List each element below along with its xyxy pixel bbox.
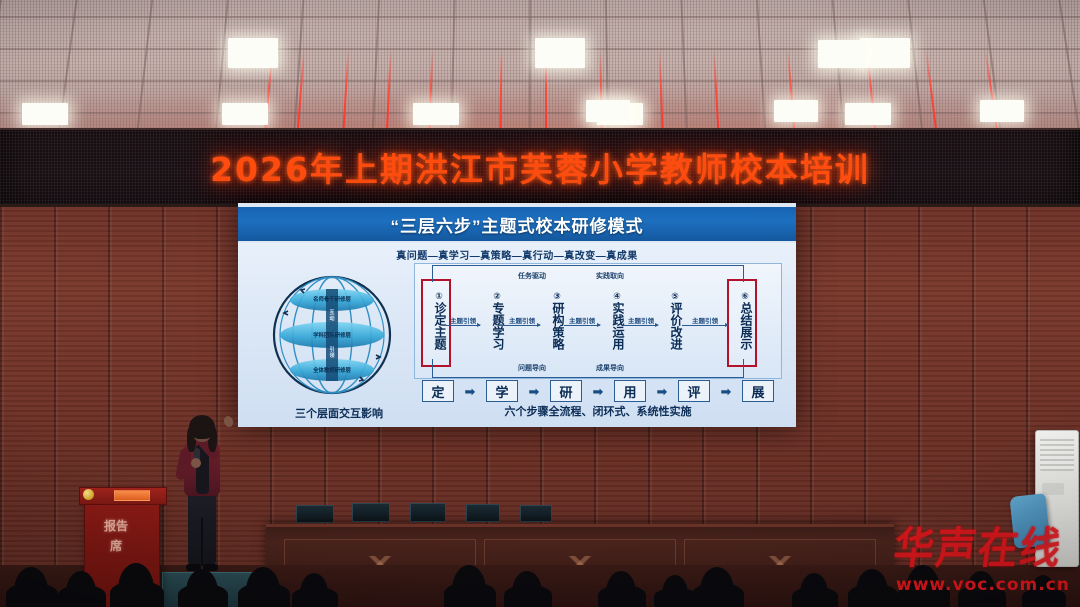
ceiling-light-panel [222,103,268,125]
audience-member-1-head [14,567,48,607]
watermark-brand: 华声在线 [891,521,1078,577]
flow-feedback-loop-top [432,265,744,282]
flow-step-6-label: 总结展示 [739,302,753,350]
ceiling-light-panel [586,100,630,122]
short-step-arrow-1: ➡ [465,385,476,398]
audience-member-5-head [246,567,280,607]
flow-step-3-number: ③ [553,292,563,302]
flow-step-6-number: ⑥ [741,292,751,302]
globe-axis-label-1b: 动 [329,315,334,322]
ceiling-light-panel [228,38,278,68]
flow-connector-3 [564,325,600,326]
globe-axis-label-1: 互 [329,309,334,316]
audience-member-11-head [700,567,734,607]
short-step-6: 展 [742,380,774,402]
flow-step-6: ⑥总结展示 [730,285,752,357]
ceiling-grid-line-h [0,16,1080,18]
ceiling-light-panel [818,40,866,68]
ac-vent-grille [1040,437,1074,471]
led-banner: 2026年上期洪江市芙蓉小学教师校本培训 [0,128,1080,207]
short-step-arrow-3: ➡ [593,385,604,398]
flow-connector-1 [446,325,480,326]
short-step-arrow-2: ➡ [529,385,540,398]
photo-scene: 2026年上期洪江市芙蓉小学教师校本培训 “三层六步”主题式校本研修模式 真问题… [0,0,1080,607]
audience-member-12-head [800,573,828,607]
watermark-url: www.voc.com.cn [896,575,1070,595]
ceiling-light-panel [845,103,891,125]
led-banner-text: 2026年上期洪江市芙蓉小学教师校本培训 [0,143,1080,191]
ceiling-light-panel [413,103,459,125]
flow-step-2: ②专题学习 [482,285,504,357]
flow-connector-label-3: 主题引领 [564,315,600,325]
audience-member-8-head [512,571,542,607]
flow-connector-label-1: 主题引领 [446,315,480,325]
flow-step-2-label: 专题学习 [491,302,505,350]
slide-title-bar: “三层六步”主题式校本研修模式 [238,207,796,241]
flow-step-5-number: ⑤ [671,292,681,302]
globe-caption: 三个层面交互影响 [264,405,414,421]
short-step-4: 用 [614,380,646,402]
flow-step-1: ①诊定主题 [424,285,446,357]
audience-member-9-head [606,571,636,607]
globe-layer-label-1: 名师骨干研修层 [313,295,351,303]
flow-connector-label-5: 主题引领 [682,315,728,325]
short-step-2: 学 [486,380,518,402]
presenter-hair-top [189,415,215,439]
six-step-flow-diagram: ①诊定主题②专题学习③研构策略④实践运用⑤评价改进⑥总结展示主题引领主题引领主题… [414,263,782,379]
globe-axis-label-2b: 领 [329,352,334,359]
ceiling [0,0,1080,128]
globe-layer-label-2: 学科团队研修层 [313,331,351,339]
short-step-3: 研 [550,380,582,402]
short-step-row: 定➡学➡研➡用➡评➡展 [414,379,782,403]
ac-control-panel [1042,483,1064,495]
flow-step-4-number: ④ [613,292,623,302]
short-step-arrow-4: ➡ [657,385,668,398]
ceiling-grid-line-h [0,112,1080,114]
projection-screen: “三层六步”主题式校本研修模式 真问题—真学习—真策略—真行动—真改变—真成果 [238,203,796,427]
flow-step-4-label: 实践运用 [611,302,625,350]
flow-connector-label-2: 主题引领 [504,315,540,325]
podium-top-edge [79,487,167,505]
audience-member-3-head [118,563,154,607]
podium-emblem-icon [83,489,94,500]
watermark: 华声在线 www.voc.com.cn [894,523,1074,603]
flow-connector-2 [504,325,540,326]
ceiling-grid-line [529,0,531,128]
ceiling-light-panel [774,100,818,122]
podium-vertical-text: 报告席 [103,516,129,556]
three-layer-globe-diagram: 名师骨干研修层 学科团队研修层 全体教师研修层 互动 引领 三个层面交互影响 [260,269,410,419]
globe-layer-label-3: 全体教师研修层 [312,366,351,374]
desk-monitor-4 [466,504,500,522]
flow-connector-4 [624,325,658,326]
audience-member-4-head [186,569,218,607]
short-step-1: 定 [422,380,454,402]
audience-member-10-head [662,575,688,607]
flow-step-1-number: ① [435,292,445,302]
short-step-5: 评 [678,380,710,402]
short-step-arrow-5: ➡ [721,385,732,398]
desk-monitor-5 [520,505,552,522]
podium-name-plate [114,490,150,501]
ceiling-light-panel [535,38,585,68]
desk-monitor-1 [296,505,334,523]
flow-step-1-label: 诊定主题 [433,302,447,350]
flow-step-5: ⑤评价改进 [660,285,682,357]
flow-step-5-label: 评价改进 [669,302,683,350]
ceiling-light-panel [860,38,910,68]
audience-member-2-head [66,571,96,607]
flow-step-3: ③研构策略 [542,285,564,357]
ceiling-light-panel [22,103,68,125]
presenter-leg-split [201,518,203,566]
ceiling-light-panel [980,100,1024,122]
flow-connector-label-4: 主题引领 [624,315,658,325]
flow-step-4: ④实践运用 [602,285,624,357]
flow-connector-5 [682,325,728,326]
audience-member-6-head [300,573,328,607]
presenter [170,418,240,578]
globe-svg: 名师骨干研修层 学科团队研修层 全体教师研修层 互动 引领 [260,269,410,403]
desk-monitor-2 [352,503,390,522]
flow-step-2-number: ② [493,292,503,302]
globe-axis-label-2: 引 [329,346,334,353]
flow-caption: 六个步骤全流程、闭环式、系统性实施 [414,403,782,419]
slide-subtitle: 真问题—真学习—真策略—真行动—真改变—真成果 [238,247,796,262]
flow-step-3-label: 研构策略 [551,302,565,350]
slide-title: “三层六步”主题式校本研修模式 [391,212,644,237]
presenter-mic-hand [191,458,201,468]
audience-member-7-head [452,565,486,607]
flow-feedback-loop-bottom [432,359,744,378]
desk-monitor-3 [410,503,446,522]
audience-member-13-head [856,569,888,607]
ceiling-grid-line-h [0,80,1080,82]
